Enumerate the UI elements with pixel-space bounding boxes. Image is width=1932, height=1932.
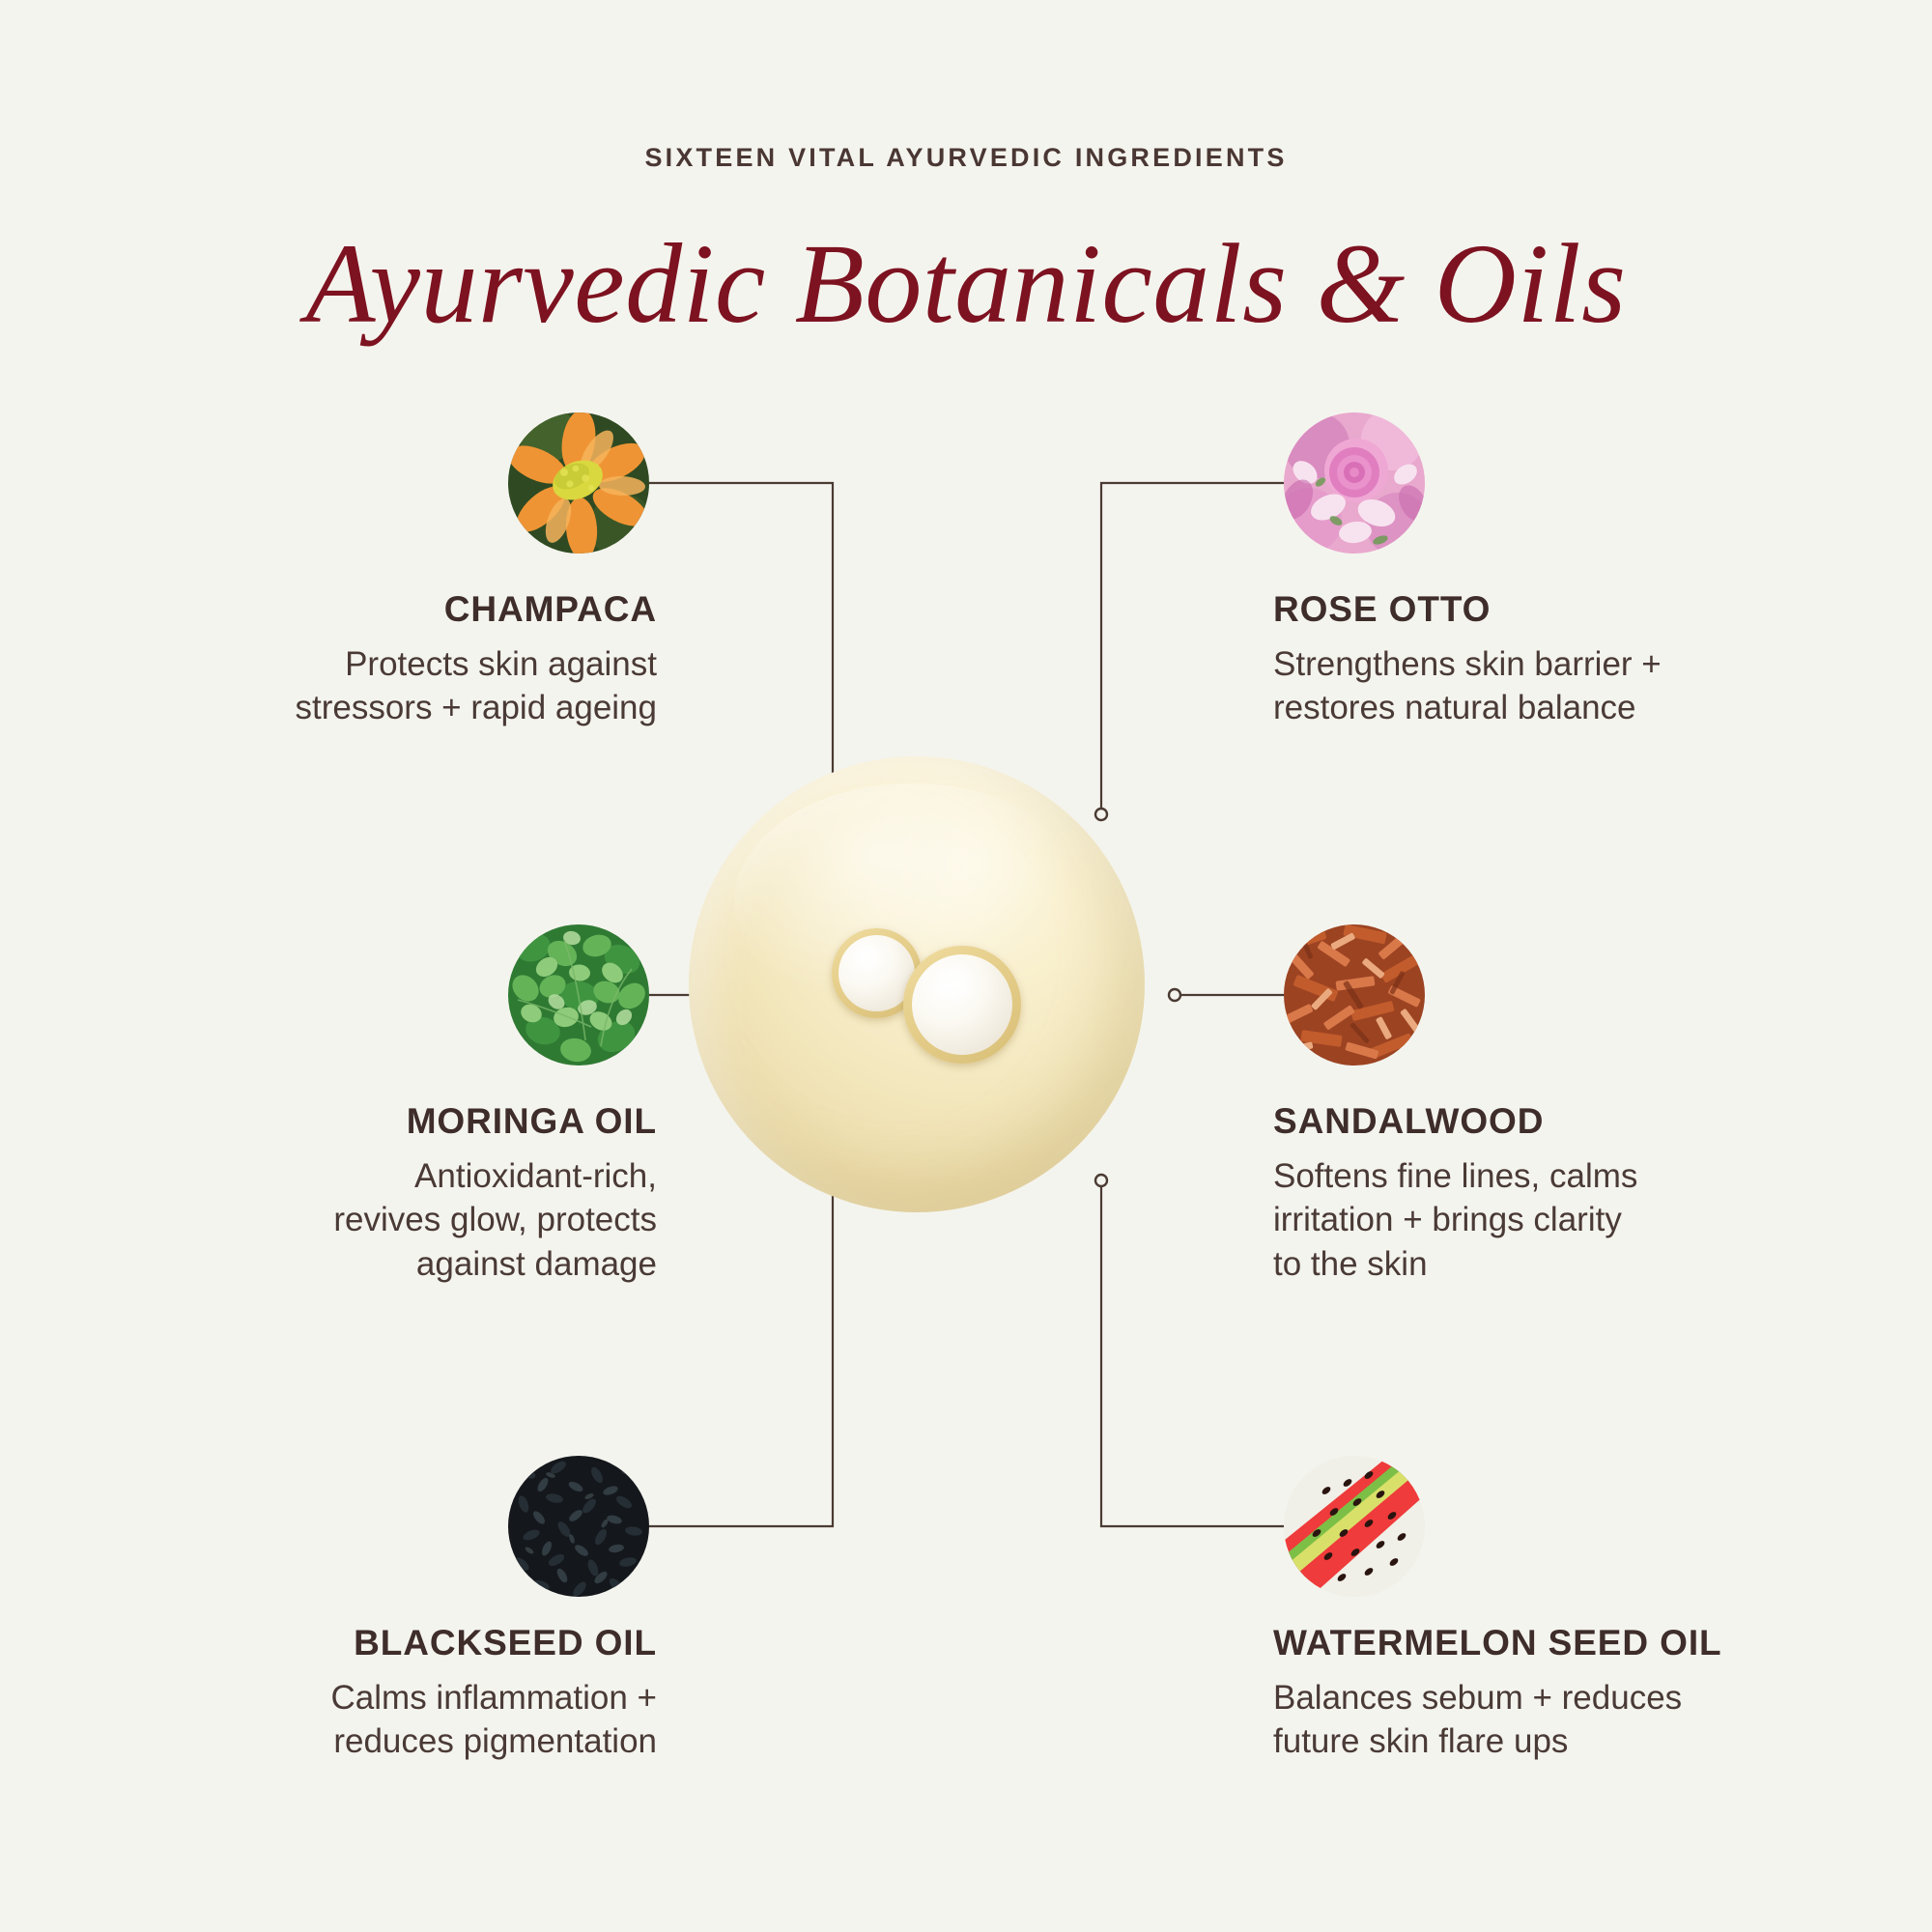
blackseed-seeds-icon	[508, 1456, 649, 1597]
sandalwood-chips-icon	[1284, 924, 1425, 1065]
connector-dot-rose-otto	[1095, 809, 1107, 820]
ingredient-description: Antioxidant-rich, revives glow, protects…	[58, 1154, 657, 1287]
ingredient-description: Strengthens skin barrier + restores natu…	[1273, 642, 1911, 730]
connector-dot-watermelon	[1095, 1175, 1107, 1186]
connector-dot-sandalwood	[1169, 989, 1180, 1001]
watermelon-slice-icon	[1284, 1456, 1425, 1597]
ingredient-block-champaca: CHAMPACA Protects skin against stressors…	[58, 589, 657, 730]
ingredient-block-rose-otto: ROSE OTTO Strengthens skin barrier + res…	[1273, 589, 1911, 730]
ingredient-name: CHAMPACA	[58, 589, 657, 631]
rose-otto-flower-icon	[1284, 412, 1425, 554]
ingredient-name: ROSE OTTO	[1273, 589, 1911, 631]
sandalwood-thumbnail[interactable]	[1284, 924, 1425, 1065]
ingredient-name: SANDALWOOD	[1273, 1101, 1911, 1143]
ingredient-name: WATERMELON SEED OIL	[1273, 1623, 1932, 1664]
blackseed-thumbnail[interactable]	[508, 1456, 649, 1597]
page-title: Ayurvedic Botanicals & Oils	[0, 220, 1932, 348]
oil-droplet-graphic	[689, 756, 1145, 1212]
rose-otto-thumbnail[interactable]	[1284, 412, 1425, 554]
ingredient-description: Balances sebum + reduces future skin fla…	[1273, 1676, 1932, 1764]
ingredient-name: MORINGA OIL	[58, 1101, 657, 1143]
ingredient-block-sandalwood: SANDALWOOD Softens fine lines, calms irr…	[1273, 1101, 1911, 1286]
eyebrow-text: SIXTEEN VITAL AYURVEDIC INGREDIENTS	[0, 143, 1932, 173]
watermelon-thumbnail[interactable]	[1284, 1456, 1425, 1597]
pearl-bubble-large	[903, 946, 1021, 1064]
bubble-glint	[929, 962, 983, 1005]
ingredient-name: BLACKSEED OIL	[58, 1623, 657, 1664]
ingredient-block-watermelon-seed-oil: WATERMELON SEED OIL Balances sebum + red…	[1273, 1623, 1932, 1764]
ingredient-block-moringa-oil: MORINGA OIL Antioxidant-rich, revives gl…	[58, 1101, 657, 1286]
ingredient-description: Softens fine lines, calms irritation + b…	[1273, 1154, 1911, 1287]
ingredient-block-blackseed-oil: BLACKSEED OIL Calms inflammation + reduc…	[58, 1623, 657, 1764]
bubble-glint	[850, 943, 888, 974]
moringa-leaves-icon	[508, 924, 649, 1065]
moringa-thumbnail[interactable]	[508, 924, 649, 1065]
champaca-thumbnail[interactable]	[508, 412, 649, 554]
ingredient-description: Protects skin against stressors + rapid …	[58, 642, 657, 730]
champaca-flower-icon	[508, 412, 649, 554]
ingredient-description: Calms inflammation + reduces pigmentatio…	[58, 1676, 657, 1764]
